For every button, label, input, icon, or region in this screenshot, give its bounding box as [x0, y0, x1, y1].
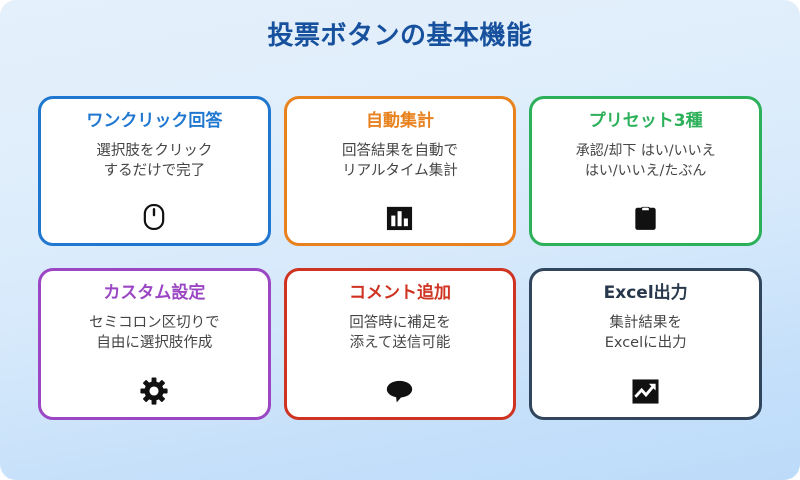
- feature-card-presets[interactable]: プリセット3種 承認/却下 はい/いいえ はい/いいえ/たぶん: [529, 96, 762, 246]
- card-title: プリセット3種: [589, 112, 703, 132]
- feature-card-custom-settings[interactable]: カスタム設定 セミコロン区切りで 自由に選択肢作成: [38, 268, 271, 420]
- card-description: 集計結果を Excelに出力: [605, 313, 687, 354]
- feature-card-auto-aggregation[interactable]: 自動集計 回答結果を自動で リアルタイム集計: [284, 96, 517, 246]
- infographic-page: 投票ボタンの基本機能 ワンクリック回答 選択肢をクリック するだけで完了 自動集…: [0, 0, 800, 480]
- card-description: 承認/却下 はい/いいえ はい/いいえ/たぶん: [576, 141, 716, 182]
- speech-bubble-icon: [385, 376, 415, 406]
- card-title: Excel出力: [604, 284, 688, 304]
- card-description: 選択肢をクリック するだけで完了: [96, 141, 212, 182]
- chart-increasing-icon: [631, 376, 661, 406]
- card-title: カスタム設定: [103, 284, 205, 304]
- card-description: セミコロン区切りで 自由に選択肢作成: [89, 313, 220, 354]
- page-title: 投票ボタンの基本機能: [0, 22, 800, 51]
- feature-card-add-comment[interactable]: コメント追加 回答時に補足を 添えて送信可能: [284, 268, 517, 420]
- card-description: 回答時に補足を 添えて送信可能: [349, 313, 451, 354]
- card-title: ワンクリック回答: [86, 112, 222, 132]
- feature-card-one-click-answer[interactable]: ワンクリック回答 選択肢をクリック するだけで完了: [38, 96, 271, 246]
- clipboard-icon: [631, 202, 661, 232]
- gear-icon: [139, 376, 169, 406]
- feature-card-excel-export[interactable]: Excel出力 集計結果を Excelに出力: [529, 268, 762, 420]
- card-title: コメント追加: [349, 284, 451, 304]
- card-title: 自動集計: [366, 112, 434, 132]
- mouse-icon: [139, 202, 169, 232]
- card-description: 回答結果を自動で リアルタイム集計: [342, 141, 458, 182]
- feature-card-grid: ワンクリック回答 選択肢をクリック するだけで完了 自動集計 回答結果を自動で …: [38, 96, 762, 420]
- bar-chart-icon: [385, 202, 415, 232]
